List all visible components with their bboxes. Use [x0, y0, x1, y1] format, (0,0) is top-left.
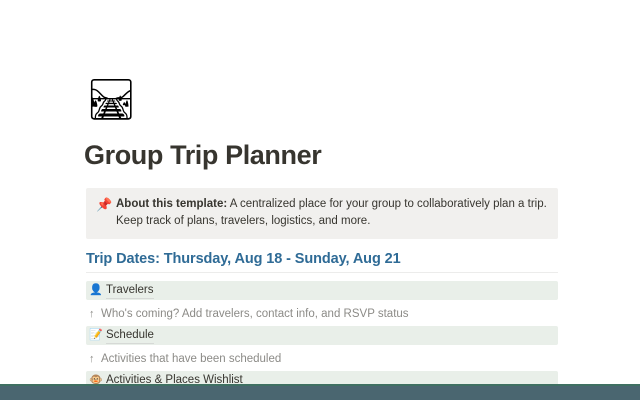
- page-title[interactable]: Group Trip Planner: [84, 138, 564, 172]
- bottom-chrome-bar: [0, 386, 640, 400]
- bust-in-silhouette-icon: 👤: [89, 283, 106, 298]
- pushpin-icon: 📌: [96, 196, 116, 213]
- list-item-label[interactable]: Travelers: [106, 283, 154, 299]
- list-item-description-schedule: ↑ Activities that have been scheduled: [86, 347, 558, 371]
- list-item-label[interactable]: Schedule: [106, 328, 154, 344]
- up-arrow-icon: ↑: [89, 351, 101, 367]
- page-link-list: 👤 Travelers ↑ Who's coming? Add traveler…: [86, 281, 558, 386]
- callout-text: About this template: A centralized place…: [116, 196, 548, 230]
- callout-label: About this template:: [116, 198, 227, 210]
- list-item-schedule[interactable]: 📝 Schedule: [86, 326, 558, 345]
- up-arrow-icon: ↑: [89, 306, 101, 322]
- list-item-description: Who's coming? Add travelers, contact inf…: [101, 306, 558, 322]
- list-item-travelers[interactable]: 👤 Travelers: [86, 281, 558, 300]
- memo-icon: 📝: [89, 328, 106, 343]
- list-item-description: Activities that have been scheduled: [101, 351, 558, 367]
- about-template-callout[interactable]: 📌 About this template: A centralized pla…: [86, 188, 558, 239]
- list-item-description-travelers: ↑ Who's coming? Add travelers, contact i…: [86, 302, 558, 326]
- railway-track-icon[interactable]: 🛤: [86, 78, 134, 122]
- screenshot-root: 🛤 Group Trip Planner 📌 About this templa…: [0, 0, 640, 400]
- section-divider: [86, 272, 558, 273]
- trip-dates-heading[interactable]: Trip Dates: Thursday, Aug 18 - Sunday, A…: [86, 250, 558, 269]
- document-canvas: 🛤 Group Trip Planner 📌 About this templa…: [0, 0, 640, 386]
